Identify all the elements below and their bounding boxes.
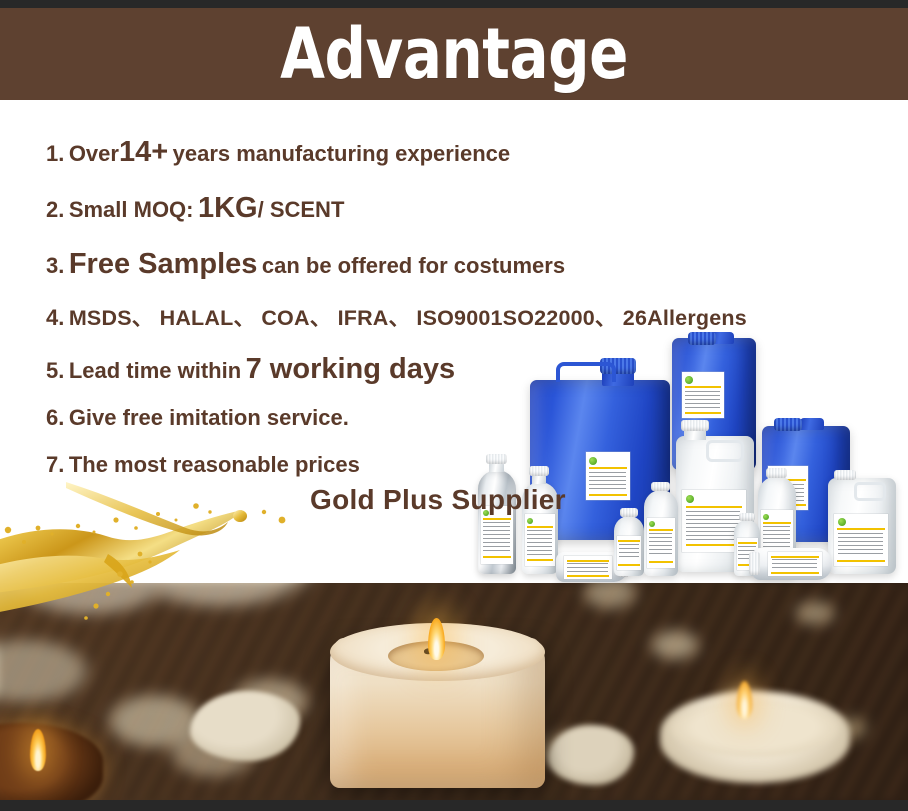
item-text: MSDS、 HALAL、 COA、 IFRA、 ISO9001SO22000、 … (69, 306, 747, 330)
bottom-rail (0, 800, 908, 811)
item-highlight: Free Samples (69, 248, 258, 280)
product-label (834, 514, 888, 566)
item-text: Small MOQ: (69, 197, 194, 222)
product-label (525, 514, 555, 566)
item-text: The most reasonable prices (69, 452, 360, 477)
item-number: 6. (46, 405, 64, 430)
item-text: years manufacturing experience (173, 141, 510, 166)
advantage-item-4: 4. MSDS、 HALAL、 COA、 IFRA、 ISO9001SO2200… (46, 292, 886, 344)
item-highlight: 7 working days (246, 353, 456, 385)
item-text: Give free imitation service. (69, 405, 349, 430)
header-banner: Advantage (0, 8, 908, 100)
advantage-item-2: 2. Small MOQ: 1KG/ SCENT (46, 180, 886, 236)
advantage-item-1: 1. Over14+ years manufacturing experienc… (46, 124, 886, 180)
bottle-cap-icon (739, 513, 755, 521)
product-label (768, 552, 822, 576)
item-number: 4. (46, 305, 64, 330)
advantage-item-3: 3. Free Samples can be offered for costu… (46, 236, 886, 292)
candle-scene-photo (0, 583, 908, 800)
advantage-item-6: 6. Give free imitation service. (46, 394, 886, 442)
page-title: Advantage (280, 19, 628, 89)
right-tealight-rim (672, 701, 838, 757)
product-label (647, 518, 675, 568)
item-text: can be offered for costumers (262, 253, 565, 278)
advantage-item-5: 5. Lead time within 7 working days (46, 344, 886, 394)
product-label (564, 556, 612, 579)
item-number: 7. (46, 452, 64, 477)
gold-plus-supplier-callout: Gold Plus Supplier (310, 484, 566, 516)
product-label (617, 536, 641, 570)
item-number: 1. (46, 141, 64, 166)
top-rail (0, 0, 908, 8)
item-highlight: 14+ (119, 136, 168, 168)
bottle-cap-icon (749, 552, 760, 575)
advantage-list: 1. Over14+ years manufacturing experienc… (46, 124, 886, 488)
item-highlight: 1KG (198, 192, 258, 224)
item-text: / SCENT (258, 197, 345, 222)
bottle-cap-icon (620, 508, 638, 517)
item-text: Lead time within (69, 358, 241, 383)
spa-stone (548, 725, 634, 785)
advantage-banner-page: Advantage (0, 0, 908, 811)
advantage-item-7: 7. The most reasonable prices (46, 442, 886, 488)
item-number: 2. (46, 197, 64, 222)
item-number: 5. (46, 358, 64, 383)
item-text: Over (69, 141, 119, 166)
item-number: 3. (46, 253, 64, 278)
